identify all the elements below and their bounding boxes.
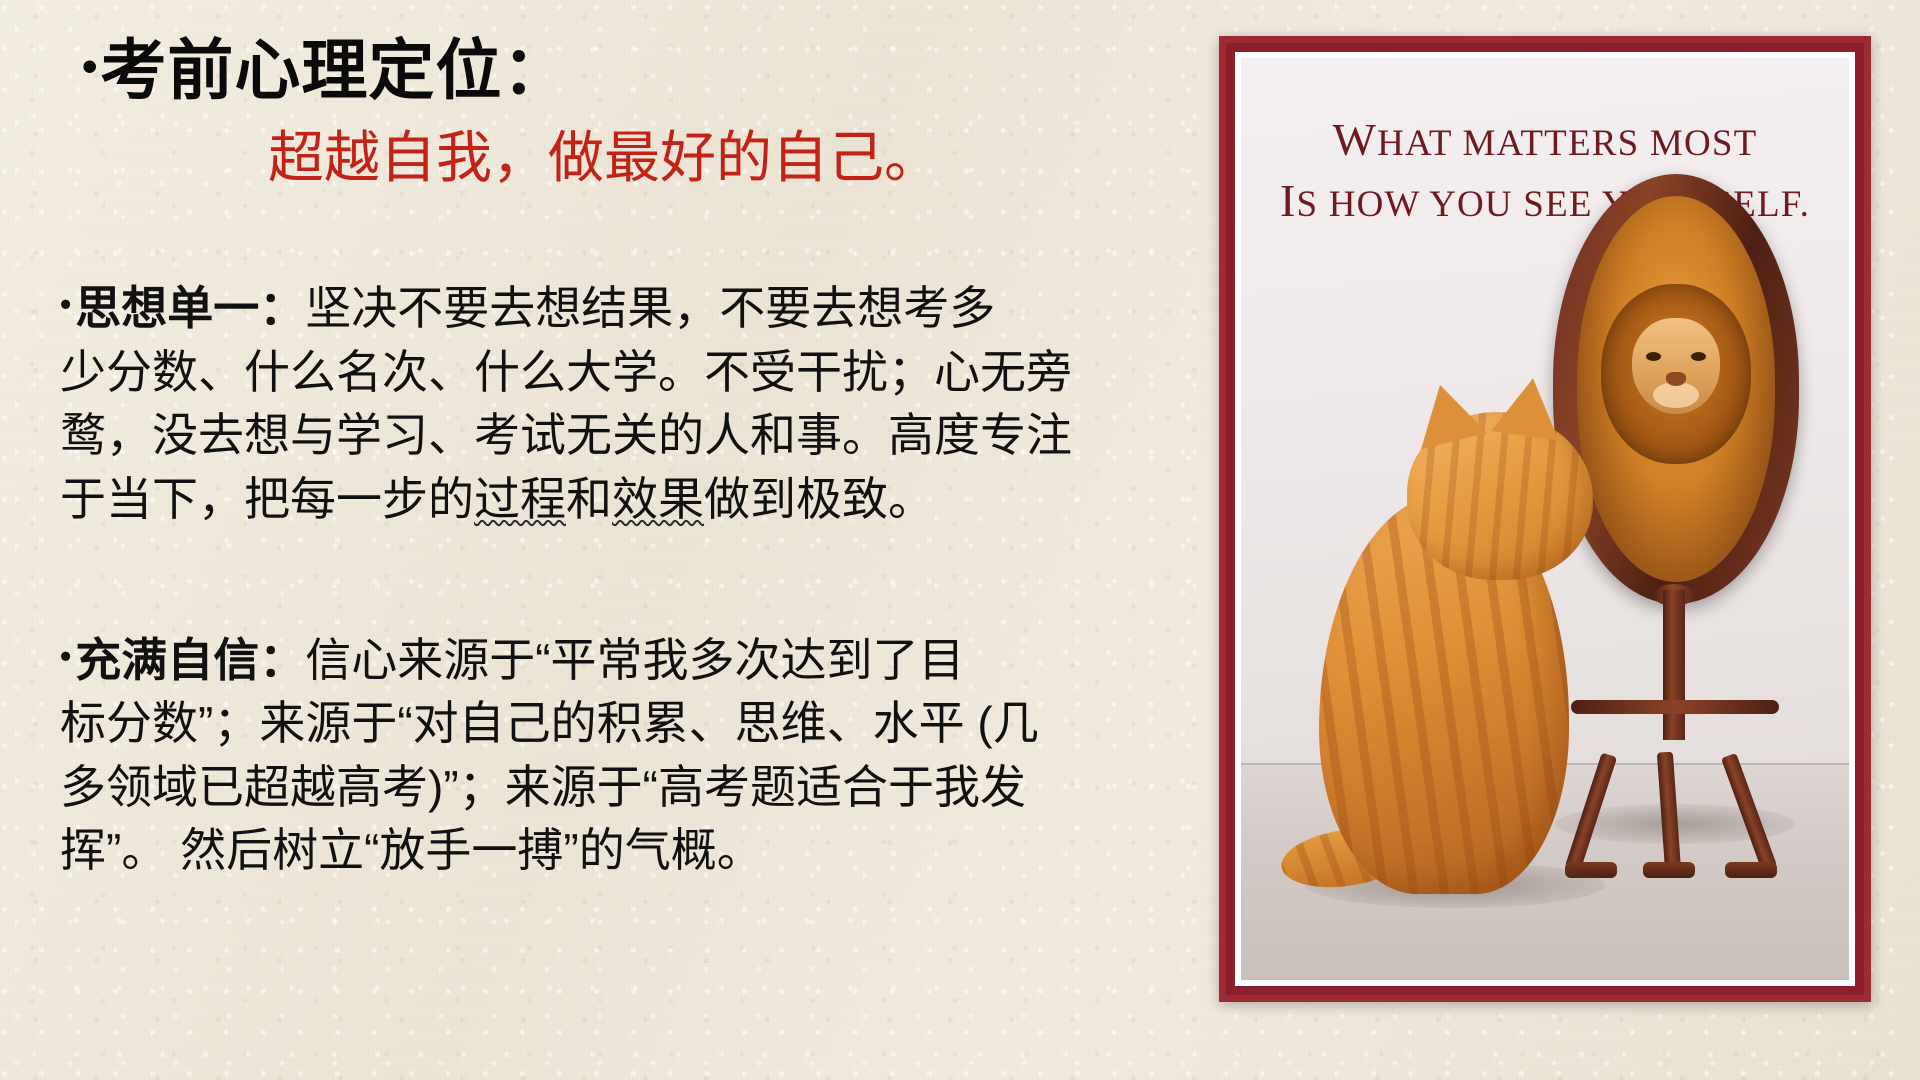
- poster-artwork: What Matters Most Is How You See Yoursel…: [1241, 58, 1849, 980]
- slide-canvas: •考前心理定位： 超越自我，做最好的自己。 •思想单一：坚决不要去想结果，不要去…: [0, 0, 1920, 1080]
- paragraph-lead-label: •充满自信：: [60, 634, 305, 686]
- paragraph-body-text: 信心来源于“平常我多次达到了目: [305, 634, 964, 686]
- paragraph-segment: 于当下，把每一步的: [60, 473, 474, 525]
- mirror-foot: [1725, 862, 1777, 878]
- slide-subtitle: 超越自我，做最好的自己。: [268, 124, 1190, 191]
- paragraph-lead-text: 充满自信：: [75, 634, 305, 686]
- paragraph-line: 于当下，把每一步的过程和效果做到极致。: [60, 468, 1190, 531]
- mirror-center-post: [1663, 590, 1685, 740]
- spellcheck-marked-text: 效果: [612, 473, 704, 525]
- motivational-poster: What Matters Most Is How You See Yoursel…: [1219, 36, 1871, 1002]
- paragraph-body-text: 坚决不要去想结果，不要去想考多: [305, 282, 995, 334]
- paragraph-bullet-icon: •: [60, 638, 71, 674]
- title-text: 考前心理定位：: [100, 33, 569, 107]
- paragraph-line: 少分数、什么名次、什么大学。不受干扰；心无旁: [60, 341, 1190, 404]
- lion-face-icon: [1632, 318, 1720, 414]
- kitten-ear-icon: [1407, 377, 1487, 450]
- paragraph-segment: 和: [566, 473, 612, 525]
- kitten-head: [1407, 412, 1593, 580]
- paragraph-thought-focus: •思想单一：坚决不要去想结果，不要去想考多 少分数、什么名次、什么大学。不受干扰…: [60, 277, 1190, 531]
- paragraph-line: 鹜，没去想与学习、考试无关的人和事。高度专注: [60, 404, 1190, 467]
- slide-text-column: •考前心理定位： 超越自我，做最好的自己。 •思想单一：坚决不要去想结果，不要去…: [60, 34, 1190, 1034]
- paragraph-line: 挥”。 然后树立“放手一搏”的气概。: [60, 819, 1190, 882]
- paragraph-confidence: •充满自信：信心来源于“平常我多次达到了目 标分数”；来源于“对自己的积累、思维…: [60, 629, 1190, 883]
- paragraph-segment: 做到极致。: [704, 473, 934, 525]
- lion-nose-icon: [1666, 372, 1686, 386]
- kitten-ear-icon: [1491, 374, 1566, 441]
- orange-tabby-kitten: [1299, 334, 1629, 894]
- slide-title: •考前心理定位：: [82, 34, 1190, 108]
- paragraph-lead-text: 思想单一：: [75, 282, 305, 334]
- paragraph-lead-label: •思想单一：: [60, 282, 305, 334]
- lion-eye-left-icon: [1646, 352, 1661, 361]
- mirror-leg: [1657, 752, 1681, 873]
- title-bullet-icon: •: [82, 42, 98, 91]
- paragraph-line: •思想单一：坚决不要去想结果，不要去想考多: [60, 277, 1190, 340]
- paragraph-bullet-icon: •: [60, 286, 71, 322]
- mirror-foot: [1643, 862, 1695, 878]
- paragraph-line: 标分数”；来源于“对自己的积累、思维、水平 (几: [60, 692, 1190, 755]
- lion-eye-right-icon: [1691, 352, 1706, 361]
- paragraph-line: 多领域已超越高考)”；来源于“高考题适合于我发: [60, 756, 1190, 819]
- spellcheck-marked-text: 过程: [474, 473, 566, 525]
- mirror-leg: [1721, 753, 1777, 871]
- paragraph-line: •充满自信：信心来源于“平常我多次达到了目: [60, 629, 1190, 692]
- poster-inner-border: What Matters Most Is How You See Yoursel…: [1226, 43, 1864, 995]
